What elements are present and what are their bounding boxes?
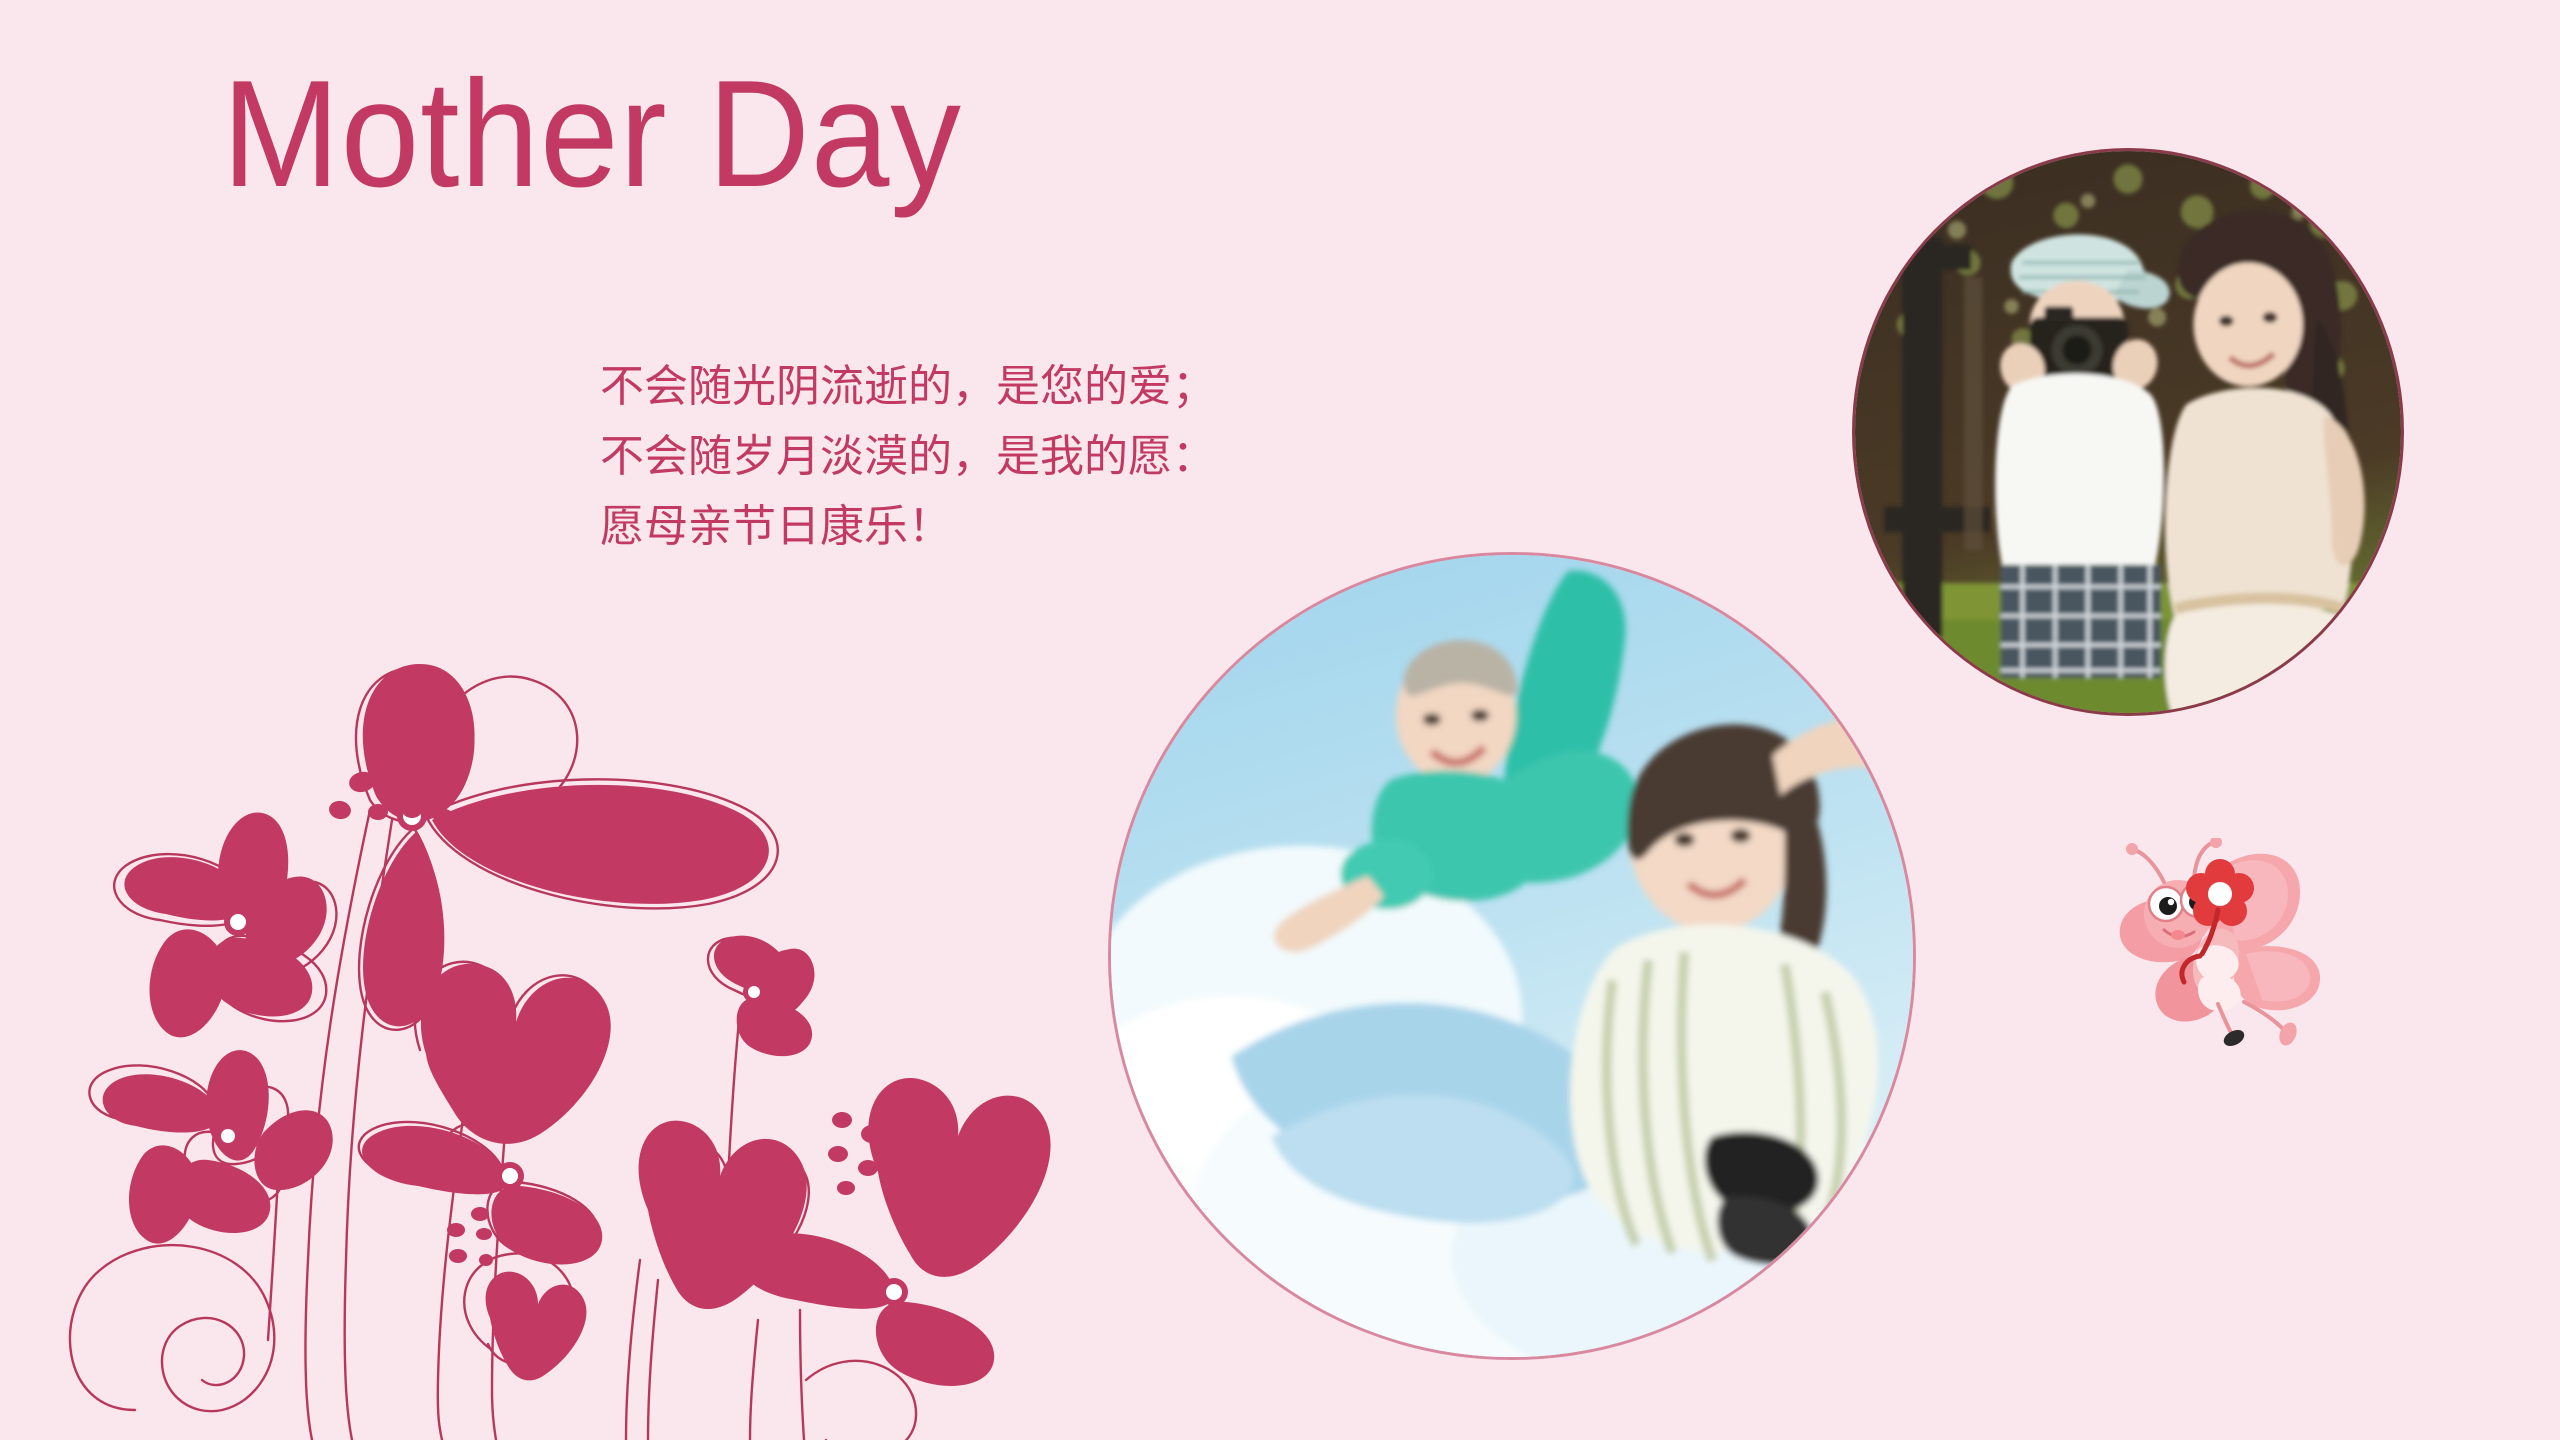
greeting-poem: 不会随光阴流逝的，是您的爱； 不会随岁月淡漠的，是我的愿： 愿母亲节日康乐！ bbox=[600, 352, 1216, 562]
butterfly-icon bbox=[2112, 838, 2338, 1050]
poem-line-3: 愿母亲节日康乐！ bbox=[600, 492, 1216, 562]
floral-illustration bbox=[40, 620, 1060, 1440]
photo-mother-and-child-on-bed[interactable] bbox=[1108, 552, 1916, 1360]
page-title: Mother Day bbox=[222, 58, 962, 210]
poem-line-2: 不会随岁月淡漠的，是我的愿： bbox=[600, 422, 1216, 492]
poem-line-1: 不会随光阴流逝的，是您的爱； bbox=[600, 352, 1216, 422]
photo-mother-and-child-with-camera[interactable] bbox=[1852, 148, 2404, 716]
greeting-card-canvas: Mother Day 不会随光阴流逝的，是您的爱； 不会随岁月淡漠的，是我的愿：… bbox=[0, 0, 2560, 1440]
